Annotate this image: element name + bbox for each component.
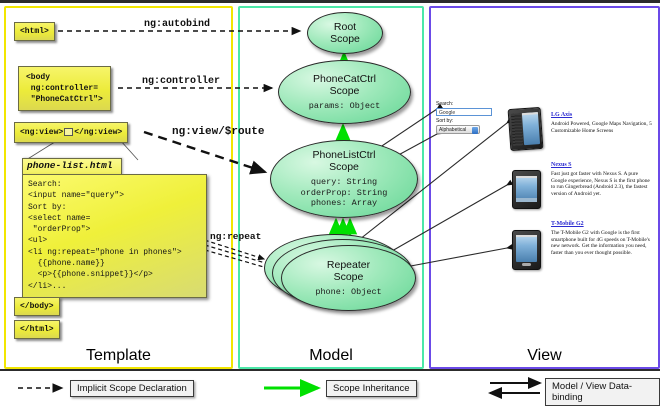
column-label-model: Model <box>240 347 422 365</box>
listing-title-link-1[interactable]: LG Axis <box>551 112 655 118</box>
listing-title-link-3[interactable]: T-Mobile G2 <box>551 221 655 227</box>
ngview-placeholder-icon <box>64 128 73 136</box>
note-title: phone-list.html <box>27 160 127 171</box>
listing-title-link-2[interactable]: Nexus S <box>551 162 655 168</box>
diagram-canvas: Template Model View <box>0 0 660 405</box>
scope-phonecatctrl-name: PhoneCatCtrl Scope <box>313 73 376 97</box>
scope-root-name: Root Scope <box>330 21 360 45</box>
template-code-block: Search: <input name="query"> Sort by: <s… <box>22 174 207 298</box>
phone-thumbnail-3 <box>512 230 541 270</box>
scope-root: Root Scope <box>307 12 383 54</box>
scope-repeater-name: Repeater Scope <box>327 259 370 283</box>
scope-phonelistctrl-name: PhoneListCtrl Scope <box>312 149 375 173</box>
tag-body-open: <body ng:controller= "PhoneCatCtrl"> <box>18 66 111 111</box>
tag-ngview-open: <ng:view> <box>20 128 63 137</box>
scope-phonelistctrl-props: query: String orderProp: String phones: … <box>301 177 388 209</box>
legend-divider <box>0 369 660 371</box>
column-label-template: Template <box>6 347 231 365</box>
phone-thumbnail-1 <box>508 107 544 151</box>
scope-phonecatctrl-props: params: Object <box>309 101 380 112</box>
sort-select[interactable]: Alphabetical <box>436 125 480 134</box>
scope-repeater: Repeater Scope phone: Object <box>281 245 416 311</box>
label-ng-autobind: ng:autobind <box>144 19 210 30</box>
tag-html-open: <html> <box>14 22 55 41</box>
sort-label: Sort by: <box>436 118 498 125</box>
legend-label-implicit-scope-declaration: Implicit Scope Declaration <box>70 380 194 397</box>
phone-thumbnail-2 <box>512 170 541 209</box>
legend-label-scope-inheritance: Scope Inheritance <box>326 380 417 397</box>
scope-repeater-props: phone: Object <box>315 287 381 298</box>
legend-label-data-binding: Model / View Data-binding <box>545 378 660 406</box>
listing-item-2: Nexus S Fast just got faster with Nexus … <box>551 162 655 197</box>
label-ng-view-route: ng:view/$route <box>172 126 264 138</box>
scope-phonecatctrl: PhoneCatCtrl Scope params: Object <box>278 60 411 124</box>
search-panel: Search: Google Sort by: Alphabetical <box>436 101 498 134</box>
top-divider <box>0 0 660 3</box>
search-label: Search: <box>436 101 498 108</box>
scope-phonelistctrl: PhoneListCtrl Scope query: String orderP… <box>270 140 418 218</box>
tag-ngview: <ng:view></ng:view> <box>14 122 128 143</box>
listing-snippet-1: Android Powered, Google Maps Navigation,… <box>551 121 655 134</box>
tag-body-close: </body> <box>14 297 60 316</box>
column-label-view: View <box>431 347 658 365</box>
label-ng-controller: ng:controller <box>142 76 220 87</box>
label-ng-repeat: ng:repeat <box>210 231 261 242</box>
chevron-down-icon <box>472 127 478 134</box>
listing-item-3: T-Mobile G2 The T-Mobile G2 with Google … <box>551 221 655 256</box>
listing-snippet-2: Fast just got faster with Nexus S. A pur… <box>551 171 655 197</box>
listing-item-1: LG Axis Android Powered, Google Maps Nav… <box>551 112 655 134</box>
sort-select-value: Alphabetical <box>439 127 466 133</box>
tag-ngview-close: </ng:view> <box>74 128 122 137</box>
listing-snippet-3: The T-Mobile G2 with Google is the first… <box>551 230 655 256</box>
search-input[interactable]: Google <box>436 108 492 116</box>
tag-html-close: </html> <box>14 320 60 339</box>
legend: Implicit Scope Declaration Scope Inherit… <box>0 372 660 405</box>
